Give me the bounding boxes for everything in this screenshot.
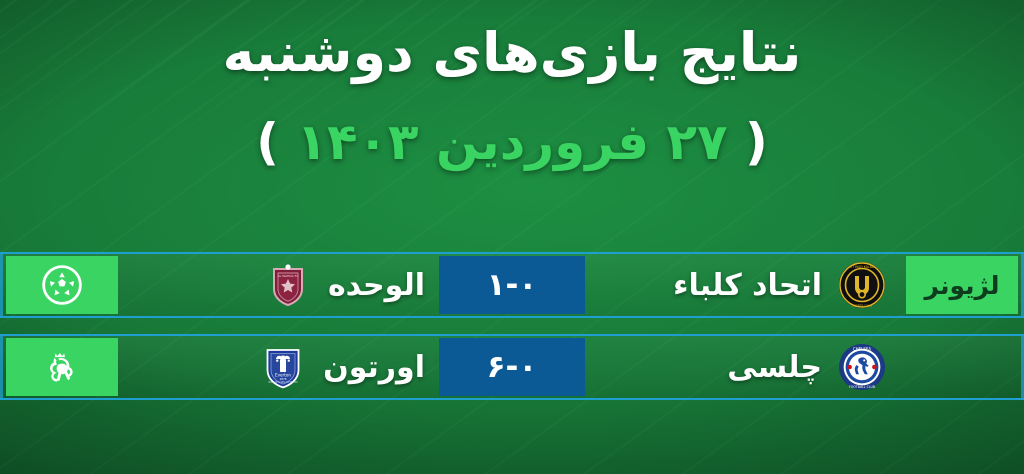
al-wahda-badge: AL WAHDA FC — [264, 261, 312, 309]
away-team-name: اورتون — [323, 350, 425, 385]
svg-text:SPORTS CLUB: SPORTS CLUB — [852, 303, 873, 307]
legionnaire-tag-cell — [900, 336, 1024, 398]
competition-cell — [0, 254, 124, 316]
svg-text:ITTIHAD KALBA: ITTIHAD KALBA — [850, 265, 875, 269]
chelsea-badge: CHELSEA FOOTBALL CLUB — [838, 343, 886, 391]
date-subtitle: ( ۲۷ فروردین ۱۴۰۳ ) — [0, 114, 1024, 172]
home-team-cell: ITTIHAD KALBA SPORTS CLUB اتحاد کلباء — [585, 254, 900, 316]
legionnaire-tag — [906, 338, 1018, 396]
match-row[interactable]: لژیونر ITTIHAD KALBA SPORTS CLUB اتحاد ک… — [0, 252, 1024, 318]
match-score: ۱-۰ — [439, 256, 585, 314]
legionnaire-tag-cell: لژیونر — [900, 254, 1024, 316]
match-row[interactable]: CHELSEA FOOTBALL CLUB چلسی ۶-۰ — [0, 334, 1024, 400]
everton-badge: Everton 1878 NIL SATIS NISI OPTIMUM — [259, 343, 307, 391]
afc-champions-league-starball-icon — [41, 264, 83, 306]
away-team-cell: AL WAHDA FC الوحده — [124, 254, 439, 316]
svg-text:CHELSEA: CHELSEA — [853, 347, 872, 352]
header: نتایج بازی‌های دوشنبه ( ۲۷ فروردین ۱۴۰۳ … — [0, 22, 1024, 172]
score-cell: ۶-۰ — [439, 336, 585, 398]
premier-league-lion-icon — [41, 346, 83, 388]
score-cell: ۱-۰ — [439, 254, 585, 316]
away-team-name: الوحده — [328, 268, 425, 303]
page-title: نتایج بازی‌های دوشنبه — [0, 22, 1024, 84]
svg-text:FOOTBALL CLUB: FOOTBALL CLUB — [849, 385, 875, 389]
svg-text:AL WAHDA FC: AL WAHDA FC — [278, 274, 299, 278]
home-team-cell: CHELSEA FOOTBALL CLUB چلسی — [585, 336, 900, 398]
competition-badge — [6, 256, 118, 314]
date-text: ۲۷ فروردین ۱۴۰۳ — [296, 113, 727, 171]
competition-badge — [6, 338, 118, 396]
svg-text:NIL SATIS NISI OPTIMUM: NIL SATIS NISI OPTIMUM — [269, 381, 298, 384]
away-team-cell: Everton 1878 NIL SATIS NISI OPTIMUM اورت… — [124, 336, 439, 398]
paren-close: ) — [256, 113, 279, 171]
legionnaire-tag: لژیونر — [906, 256, 1018, 314]
ittihad-kalba-badge: ITTIHAD KALBA SPORTS CLUB — [838, 261, 886, 309]
competition-cell — [0, 336, 124, 398]
paren-open: ( — [745, 113, 768, 171]
home-team-name: چلسی — [727, 350, 822, 385]
match-score: ۶-۰ — [439, 338, 585, 396]
match-list: لژیونر ITTIHAD KALBA SPORTS CLUB اتحاد ک… — [0, 252, 1024, 416]
home-team-name: اتحاد کلباء — [673, 268, 822, 303]
